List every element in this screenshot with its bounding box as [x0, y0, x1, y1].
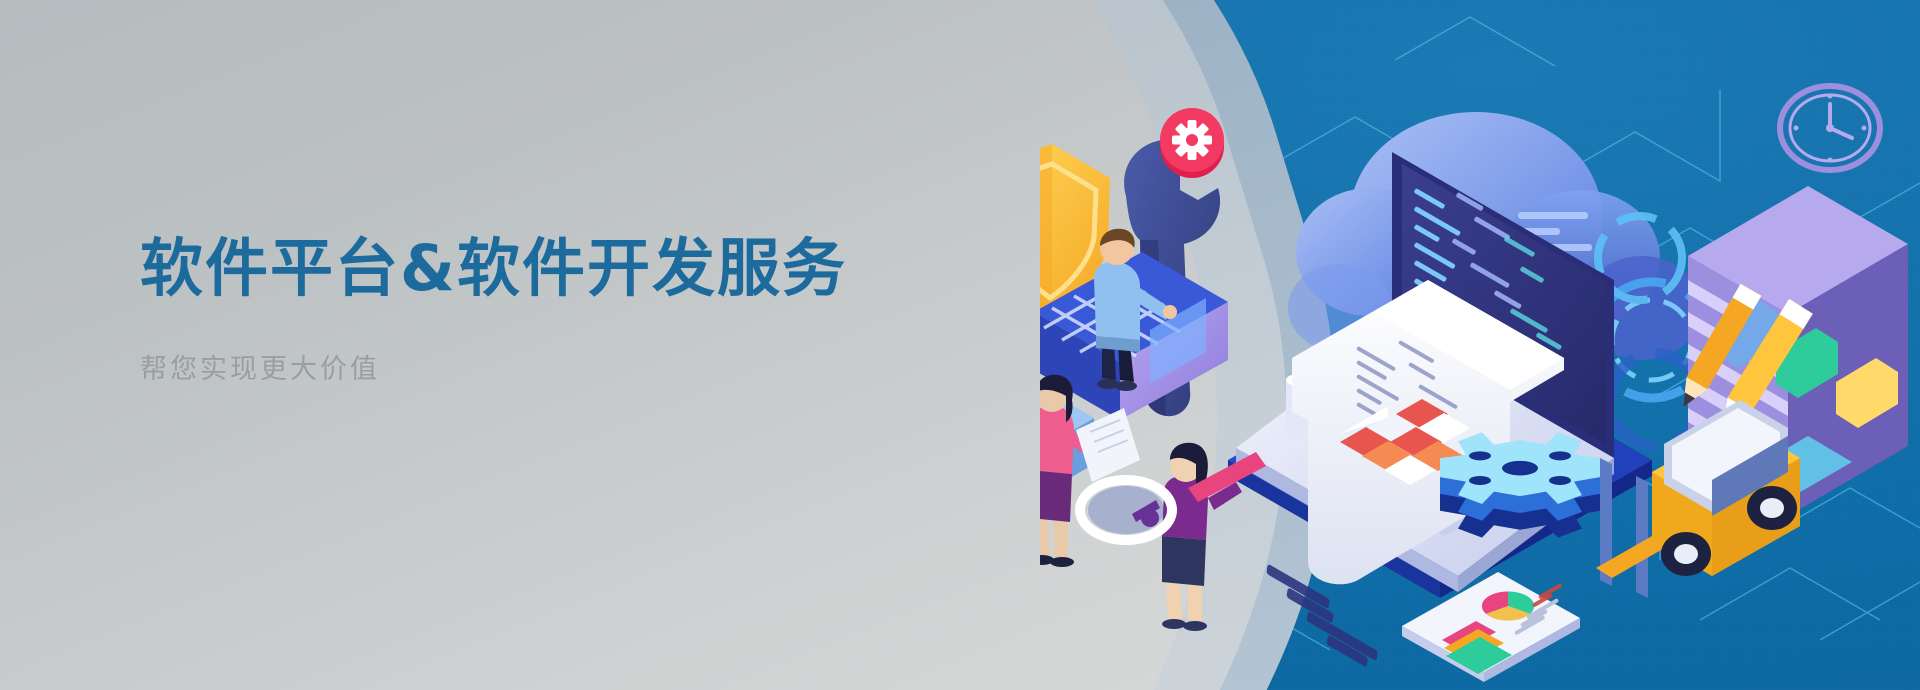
hero-headline: 软件平台&软件开发服务	[140, 236, 847, 303]
hero-subtitle: 帮您实现更大价值	[140, 347, 847, 386]
clock-icon	[1780, 86, 1880, 170]
hero-copy: 软件平台&软件开发服务 帮您实现更大价值	[140, 236, 847, 386]
gear-badge-icon	[1160, 108, 1224, 178]
hero-banner: 软件平台&软件开发服务 帮您实现更大价值	[0, 0, 1920, 690]
hero-illustration	[1040, 40, 1920, 690]
gears-stack-icon	[1440, 432, 1600, 537]
